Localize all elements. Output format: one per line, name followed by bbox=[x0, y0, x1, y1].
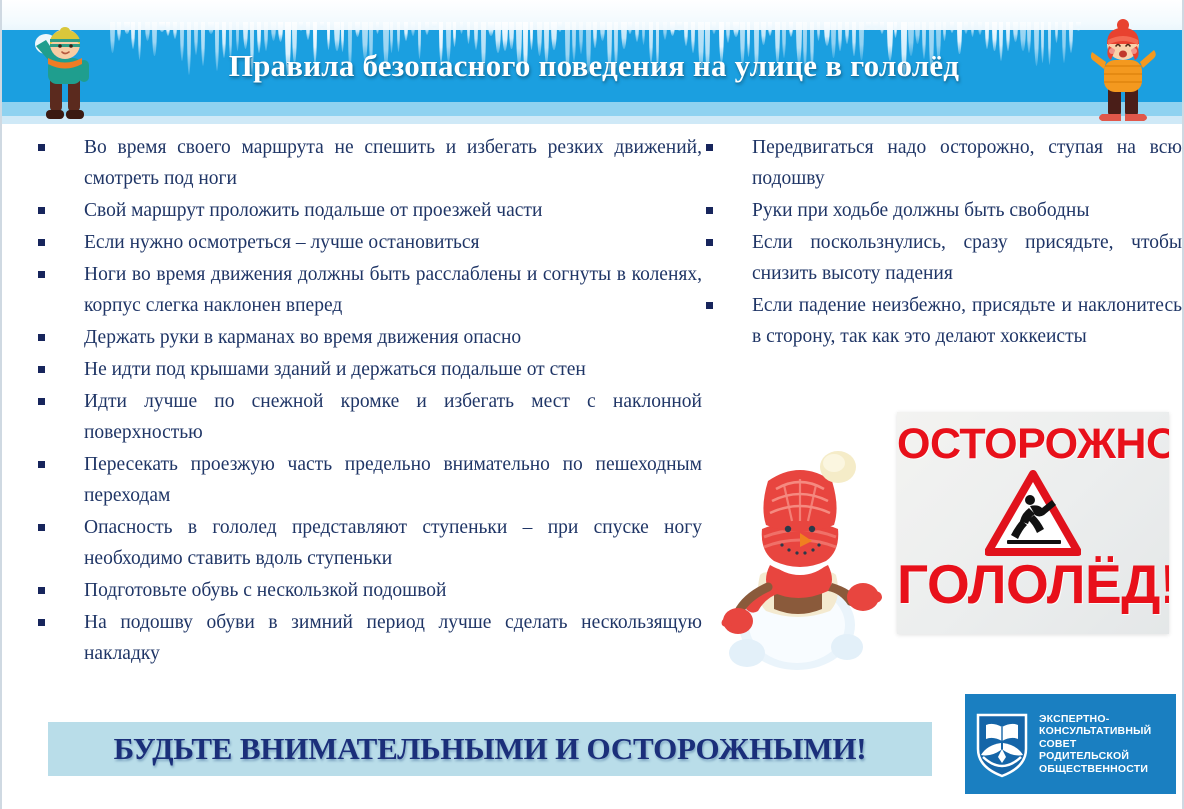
warning-sign: ОСТОРОЖНО! ГОЛОЛЁД! bbox=[897, 412, 1169, 634]
rule-item: Во время своего маршрута не спешить и из… bbox=[16, 132, 702, 194]
poster-page: Правила безопасного поведения на улице в… bbox=[0, 0, 1184, 809]
bottom-banner-text: БУДЬТЕ ВНИМАТЕЛЬНЫМИ И ОСТОРОЖНЫМИ! bbox=[114, 731, 867, 767]
rule-item: Ноги во время движения должны быть рассл… bbox=[16, 259, 702, 321]
rule-item: Подготовьте обувь с нескользкой подошвой bbox=[16, 575, 702, 606]
logo-text-line: РОДИТЕЛЬСКОЙ bbox=[1039, 750, 1151, 763]
rule-item: Если падение неизбежно, присядьте и накл… bbox=[692, 290, 1184, 352]
rule-item: Пересекать проезжую часть предельно вним… bbox=[16, 449, 702, 511]
logo-text-line: ОБЩЕСТВЕННОСТИ bbox=[1039, 763, 1151, 776]
poster-header: Правила безопасного поведения на улице в… bbox=[2, 0, 1184, 130]
rules-list-right: Передвигаться надо осторожно, ступая на … bbox=[692, 132, 1184, 352]
organization-logo: ЭКСПЕРТНО-КОНСУЛЬТАТИВНЫЙСОВЕТРОДИТЕЛЬСК… bbox=[965, 694, 1176, 794]
bottom-banner: БУДЬТЕ ВНИМАТЕЛЬНЫМИ И ОСТОРОЖНЫМИ! bbox=[48, 722, 932, 776]
rule-item: Свой маршрут проложить подальше от проез… bbox=[16, 195, 702, 226]
title-band-light bbox=[2, 102, 1184, 116]
slippery-surface-warning-icon bbox=[985, 470, 1081, 556]
snowman-illustration bbox=[702, 425, 902, 675]
rule-item: Если поскользнулись, сразу присядьте, чт… bbox=[692, 227, 1184, 289]
logo-text-line: КОНСУЛЬТАТИВНЫЙ bbox=[1039, 725, 1151, 738]
rule-item: На подошву обуви в зимний период лучше с… bbox=[16, 607, 702, 669]
rule-item: Не идти под крышами зданий и держаться п… bbox=[16, 354, 702, 385]
rules-column-left: Во время своего маршрута не спешить и из… bbox=[16, 132, 702, 670]
rule-item: Если нужно осмотреться – лучше остановит… bbox=[16, 227, 702, 258]
warning-top-text: ОСТОРОЖНО! bbox=[897, 420, 1169, 469]
shield-book-doves-emblem-icon bbox=[973, 709, 1031, 779]
page-title: Правила безопасного поведения на улице в… bbox=[2, 48, 1184, 84]
logo-text-line: СОВЕТ bbox=[1039, 738, 1151, 751]
rule-item: Держать руки в карманах во время движени… bbox=[16, 322, 702, 353]
rule-item: Идти лучше по снежной кромке и избегать … bbox=[16, 386, 702, 448]
title-band-light-2 bbox=[2, 116, 1184, 124]
rule-item: Опасность в гололед представляют ступень… bbox=[16, 512, 702, 574]
rules-column-right: Передвигаться надо осторожно, ступая на … bbox=[692, 132, 1184, 353]
rule-item: Руки при ходьбе должны быть свободны bbox=[692, 195, 1184, 226]
rule-item: Передвигаться надо осторожно, ступая на … bbox=[692, 132, 1184, 194]
logo-text-line: ЭКСПЕРТНО- bbox=[1039, 713, 1151, 726]
organization-logo-text: ЭКСПЕРТНО-КОНСУЛЬТАТИВНЫЙСОВЕТРОДИТЕЛЬСК… bbox=[1039, 713, 1151, 776]
rules-list-left: Во время своего маршрута не спешить и из… bbox=[16, 132, 702, 669]
warning-bottom-text: ГОЛОЛЁД! bbox=[897, 552, 1169, 616]
